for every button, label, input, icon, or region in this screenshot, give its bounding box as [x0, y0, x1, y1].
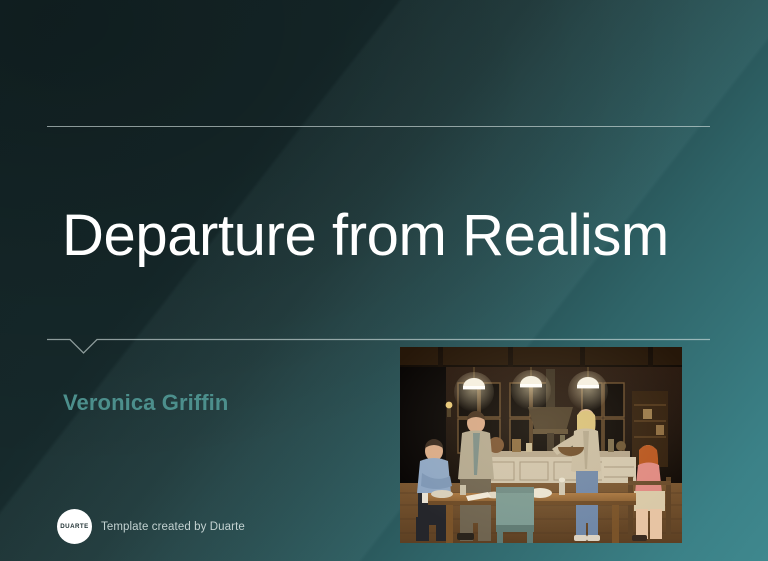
top-divider-rule — [47, 126, 710, 127]
author-name: Veronica Griffin — [63, 390, 228, 416]
duarte-logo-icon: DUARTE — [57, 509, 92, 544]
stage-photograph — [400, 347, 682, 543]
duarte-logo-label: DUARTE — [60, 523, 88, 530]
title-slide: Departure from Realism Veronica Griffin … — [0, 0, 768, 561]
page-title: Departure from Realism — [62, 205, 702, 268]
stage-scene-illustration — [400, 347, 682, 543]
footer-credit: DUARTE Template created by Duarte — [57, 509, 245, 544]
template-credit-label: Template created by Duarte — [101, 521, 245, 533]
